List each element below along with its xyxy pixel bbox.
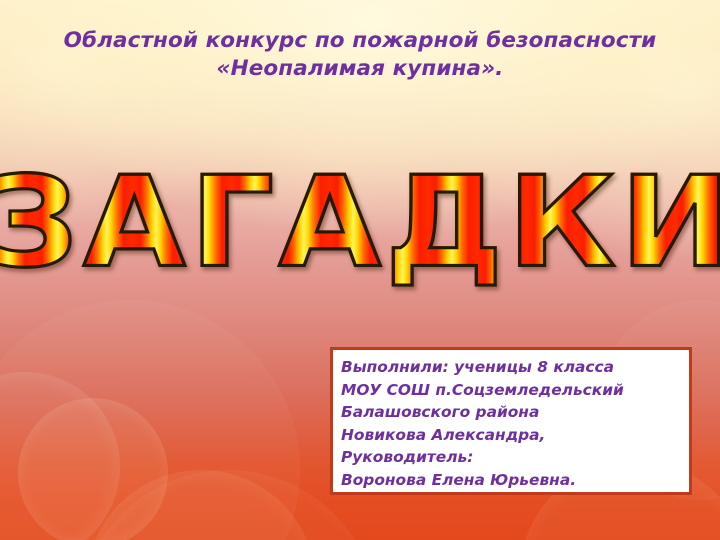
slide-heading: Областной конкурс по пожарной безопаснос… (0, 27, 720, 83)
authors-text-box: Выполнили: ученицы 8 класса МОУ СОШ п.Со… (330, 347, 692, 495)
bokeh-circle (0, 300, 300, 540)
bokeh-circle (86, 470, 316, 540)
authors-text: Выполнили: ученицы 8 класса МОУ СОШ п.Со… (341, 356, 685, 492)
wordart-title: ЗАГАДКИ (0, 159, 720, 284)
wordart-container: ЗАГАДКИ (0, 152, 720, 292)
presentation-slide: Областной конкурс по пожарной безопаснос… (0, 0, 720, 540)
bokeh-circle (0, 372, 120, 540)
bokeh-circle (18, 398, 168, 540)
